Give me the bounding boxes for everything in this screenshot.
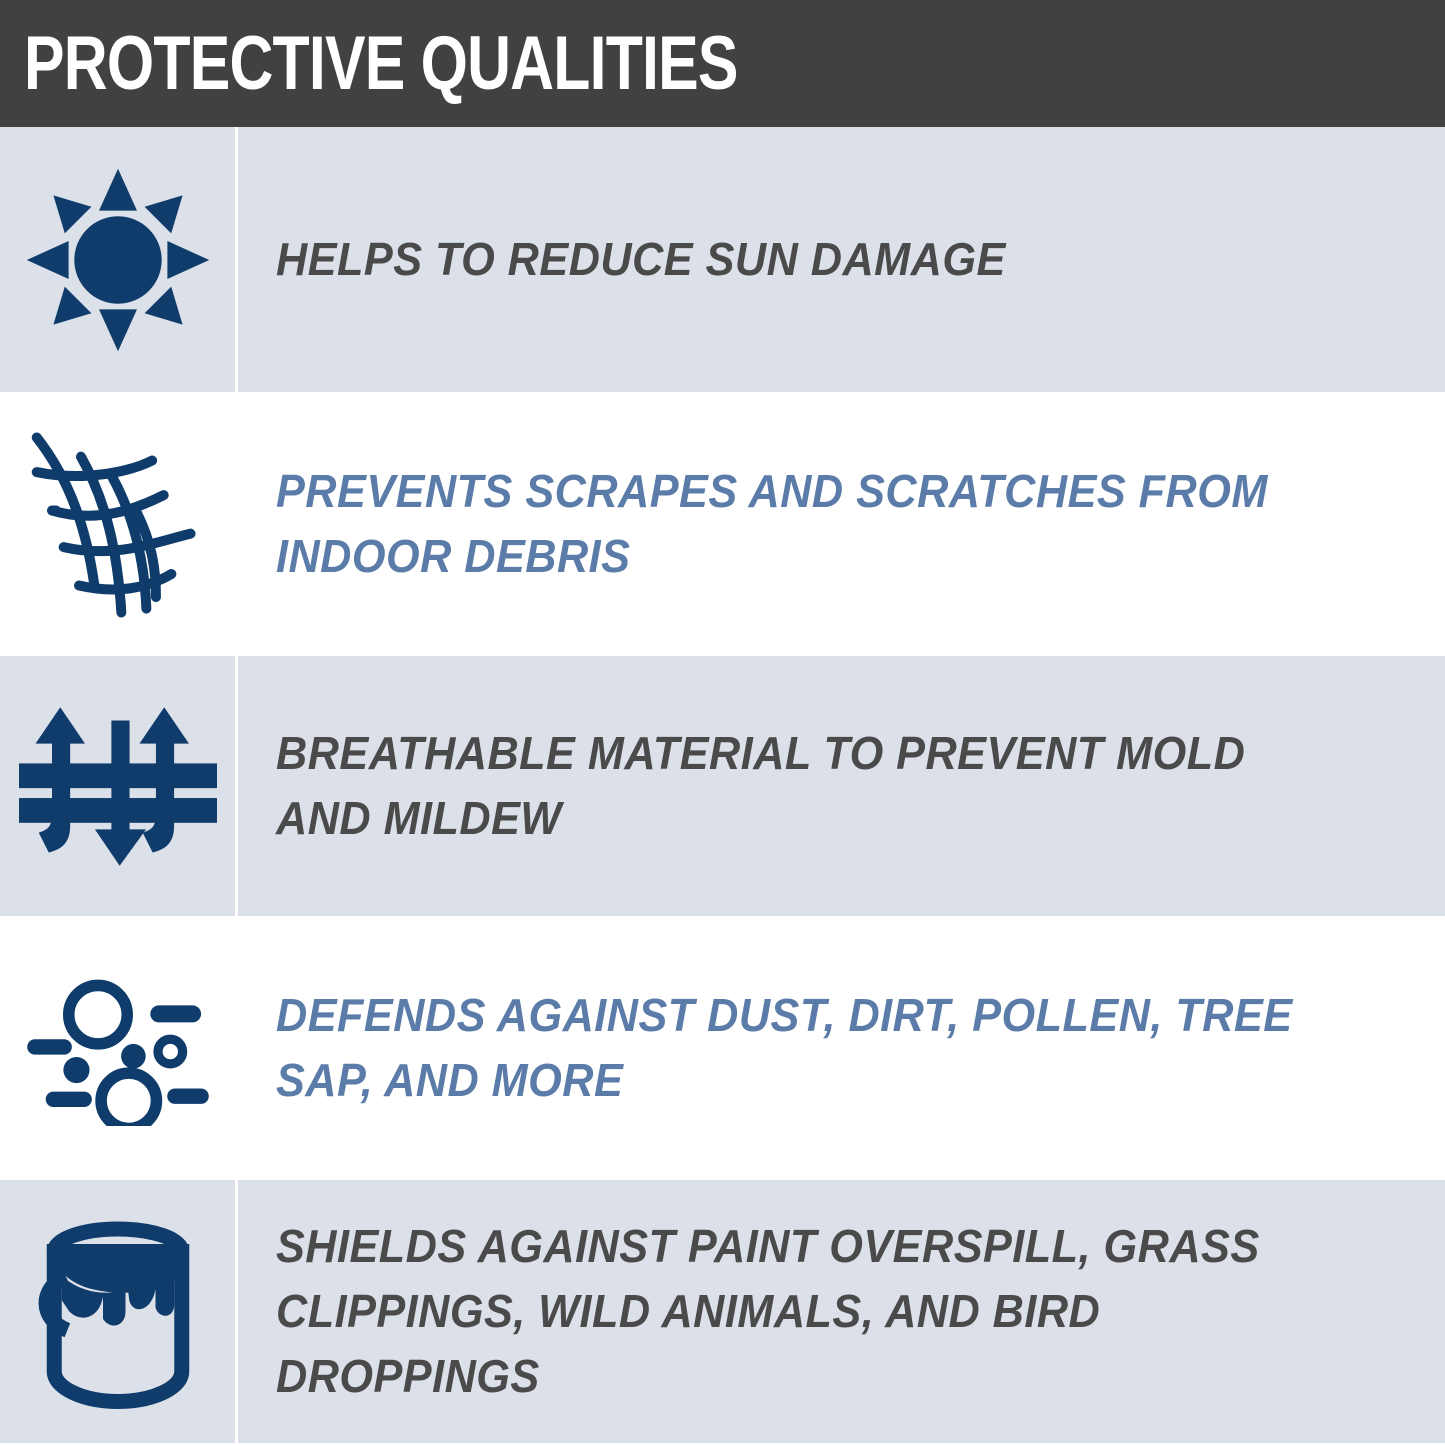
icon-cell <box>0 918 238 1178</box>
feature-row: HELPS TO REDUCE SUN DAMAGE <box>0 127 1445 392</box>
feature-text: HELPS TO REDUCE SUN DAMAGE <box>276 227 1006 292</box>
feature-text: PREVENTS SCRAPES AND SCRATCHES FROM INDO… <box>276 459 1337 590</box>
text-cell: SHIELDS AGAINST PAINT OVERSPILL, GRASS C… <box>238 1180 1445 1443</box>
feature-text: BREATHABLE MATERIAL TO PREVENT MOLD AND … <box>276 721 1337 852</box>
breathable-airflow-icon <box>19 704 217 869</box>
page-title: PROTECTIVE QUALITIES <box>0 26 738 102</box>
text-cell: DEFENDS AGAINST DUST, DIRT, POLLEN, TREE… <box>238 918 1445 1178</box>
protective-qualities-infographic: PROTECTIVE QUALITIES <box>0 0 1445 1445</box>
feature-row: SHIELDS AGAINST PAINT OVERSPILL, GRASS C… <box>0 1178 1445 1443</box>
feature-rows: HELPS TO REDUCE SUN DAMAGE <box>0 127 1445 1445</box>
feature-text: SHIELDS AGAINST PAINT OVERSPILL, GRASS C… <box>276 1214 1337 1410</box>
icon-cell <box>0 1180 238 1443</box>
feature-text: DEFENDS AGAINST DUST, DIRT, POLLEN, TREE… <box>276 983 1337 1114</box>
icon-cell <box>0 394 238 654</box>
dust-particles-icon <box>18 971 218 1126</box>
feature-row: BREATHABLE MATERIAL TO PREVENT MOLD AND … <box>0 654 1445 916</box>
text-cell: BREATHABLE MATERIAL TO PREVENT MOLD AND … <box>238 656 1445 916</box>
feature-row: PREVENTS SCRAPES AND SCRATCHES FROM INDO… <box>0 392 1445 654</box>
icon-cell <box>0 656 238 916</box>
paint-can-icon <box>23 1214 213 1409</box>
icon-cell <box>0 127 238 392</box>
header-bar: PROTECTIVE QUALITIES <box>0 0 1445 127</box>
text-cell: PREVENTS SCRAPES AND SCRATCHES FROM INDO… <box>238 394 1445 654</box>
feature-row: DEFENDS AGAINST DUST, DIRT, POLLEN, TREE… <box>0 916 1445 1178</box>
sun-icon <box>23 165 213 355</box>
scratches-icon <box>20 424 215 624</box>
text-cell: HELPS TO REDUCE SUN DAMAGE <box>238 127 1445 392</box>
